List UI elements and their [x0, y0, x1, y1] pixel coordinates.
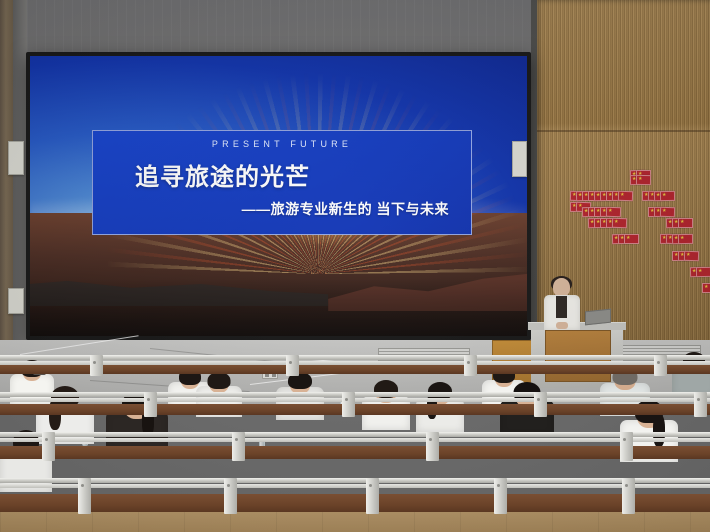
bench-support-post [224, 478, 237, 514]
bench-support-post [42, 432, 55, 461]
wall-placard-left-upper [8, 141, 24, 175]
bench-row [0, 355, 710, 378]
flag-tile [660, 191, 675, 201]
flag-tile [696, 267, 710, 277]
presenter-inner-top [556, 296, 567, 318]
bench-support-post [426, 432, 439, 461]
bench-support-post [144, 392, 157, 417]
slide-landscape-shadow [30, 279, 527, 336]
slide-headline: 追寻旅途的光芒 [135, 157, 310, 192]
bench-second-rail [0, 438, 710, 442]
bench-support-post [654, 355, 667, 376]
bench-top-rail [0, 478, 710, 483]
bench-row [0, 432, 710, 463]
bench-desk-front [0, 494, 710, 512]
flag-tile [702, 283, 710, 293]
bench-support-post [694, 392, 707, 417]
flag-tile [624, 234, 639, 244]
bench-support-post [286, 355, 299, 376]
presenter-hands [556, 322, 568, 329]
presenter [541, 278, 583, 330]
bench-row [0, 392, 710, 419]
bench-support-post [494, 478, 507, 514]
bench-support-post [90, 355, 103, 376]
bench-top-rail [0, 392, 710, 397]
flag-tile [660, 207, 675, 218]
bench-top-rail [0, 355, 710, 360]
flag-tile [678, 234, 693, 244]
wood-wall-seam [535, 130, 710, 132]
bench-support-post [464, 355, 477, 376]
flag-tile [612, 218, 627, 229]
wall-placard-left-lower [8, 288, 24, 314]
china-map-of-flags [570, 148, 710, 293]
flag-tile [636, 175, 651, 185]
bench-second-rail [0, 398, 710, 402]
bench-support-post [232, 432, 245, 461]
flag-tile [678, 218, 693, 228]
bench-support-post [534, 392, 547, 417]
led-display-bezel: PRESENT FUTURE 追寻旅途的光芒 ——旅游专业新生的 当下与未来 [26, 52, 531, 340]
flag-tile [684, 250, 699, 261]
lecture-hall-scene: PRESENT FUTURE 追寻旅途的光芒 ——旅游专业新生的 当下与未来 [0, 0, 710, 532]
wall-corner-shadow [531, 0, 537, 352]
podium-laptop [585, 309, 611, 326]
flag-tile [618, 191, 633, 202]
slide-kicker: PRESENT FUTURE [93, 139, 471, 149]
bench-support-post [78, 478, 91, 514]
bench-support-post [366, 478, 379, 514]
bench-top-rail [0, 432, 710, 437]
bench-desk-front [0, 404, 710, 415]
bench-desk-front [0, 365, 710, 374]
bench-support-post [620, 432, 633, 461]
bench-row [0, 478, 710, 516]
bench-support-post [342, 392, 355, 417]
slide-subheadline: ——旅游专业新生的 当下与未来 [242, 199, 449, 219]
bench-second-rail [0, 484, 710, 488]
wall-placard-right [512, 141, 527, 177]
bench-support-post [622, 478, 635, 514]
presentation-screen[interactable]: PRESENT FUTURE 追寻旅途的光芒 ——旅游专业新生的 当下与未来 [30, 56, 527, 336]
bench-desk-front [0, 446, 710, 459]
slide-text-panel: PRESENT FUTURE 追寻旅途的光芒 ——旅游专业新生的 当下与未来 [92, 130, 472, 235]
